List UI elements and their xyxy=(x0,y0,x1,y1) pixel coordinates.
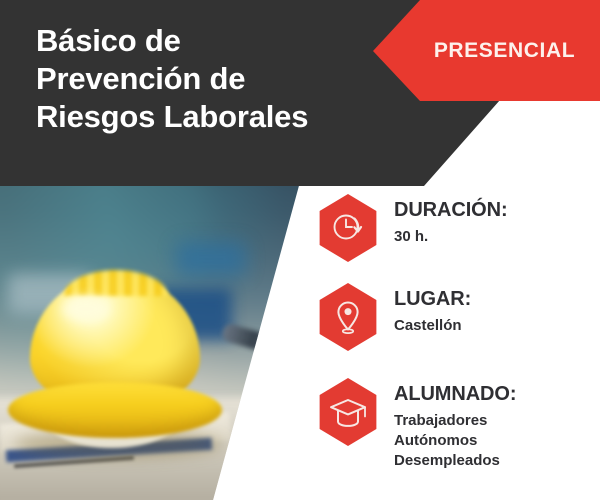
hard-hat-photo xyxy=(0,182,320,500)
cap-glyph xyxy=(327,394,369,430)
course-poster: Básico de Prevención de Riesgos Laborale… xyxy=(0,0,600,500)
info-value-line: Trabajadores xyxy=(394,411,516,431)
hard-hat-highlight xyxy=(62,296,110,322)
pin-glyph xyxy=(328,296,368,338)
location-pin-icon xyxy=(315,283,381,351)
info-label-lugar: LUGAR: xyxy=(394,287,471,311)
info-label-duracion: DURACIÓN: xyxy=(394,198,508,222)
hard-hat-brim xyxy=(8,382,222,438)
info-value-alumnado: Trabajadores Autónomos Desempleados xyxy=(394,411,516,471)
page-title: Básico de Prevención de Riesgos Laborale… xyxy=(36,22,376,136)
hard-hat-ridges xyxy=(64,270,168,296)
info-value-line: Castellón xyxy=(394,316,471,336)
info-row-duracion: DURACIÓN: 30 h. xyxy=(315,194,508,262)
info-row-lugar: LUGAR: Castellón xyxy=(315,283,471,351)
modality-badge-label: PRESENCIAL xyxy=(434,39,575,63)
title-line-3: Riesgos Laborales xyxy=(36,98,376,136)
course-details-panel: DURACIÓN: 30 h. LUGAR: Castellón xyxy=(310,192,595,497)
modality-badge: PRESENCIAL xyxy=(373,0,600,101)
info-value-line: Autónomos xyxy=(394,431,516,451)
info-label-alumnado: ALUMNADO: xyxy=(394,382,516,406)
title-line-1: Básico de xyxy=(36,22,376,60)
title-line-2: Prevención de xyxy=(36,60,376,98)
info-value-line: 30 h. xyxy=(394,227,508,247)
info-row-alumnado: ALUMNADO: Trabajadores Autónomos Desempl… xyxy=(315,378,516,471)
info-value-line: Desempleados xyxy=(394,451,516,471)
info-text-lugar: LUGAR: Castellón xyxy=(394,283,471,336)
photo-blur-shape-c xyxy=(176,242,246,276)
info-value-duracion: 30 h. xyxy=(394,227,508,247)
info-value-lugar: Castellón xyxy=(394,316,471,336)
info-text-alumnado: ALUMNADO: Trabajadores Autónomos Desempl… xyxy=(394,378,516,471)
clock-glyph xyxy=(328,208,368,248)
info-text-duracion: DURACIÓN: 30 h. xyxy=(394,194,508,247)
graduation-cap-icon xyxy=(315,378,381,446)
clock-icon xyxy=(315,194,381,262)
hard-hat-object xyxy=(8,274,216,450)
